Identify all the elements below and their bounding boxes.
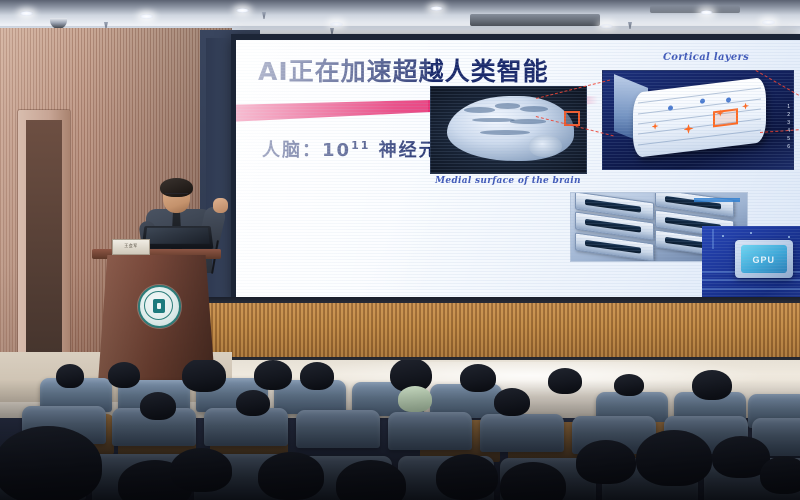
downlight [236, 8, 249, 13]
audience-head-foreground [0, 426, 102, 500]
presentation-slide: AI正在加速超越人类智能 人脑：1011 神经元 Medial surface … [236, 40, 800, 298]
cortical-layers-image: 1 2 3 4 5 6 [602, 70, 794, 170]
gpu-chip-image: GPU [702, 226, 800, 298]
seat [480, 414, 564, 452]
cerebellum [529, 135, 562, 157]
audience-head [494, 388, 530, 416]
ceiling-fixture-far [650, 6, 740, 13]
audience-head [56, 364, 84, 388]
circuit-trace [702, 279, 800, 281]
audience-head [236, 390, 270, 416]
downlight [430, 6, 443, 11]
slide-subtitle: 人脑：1011 神经元 [262, 136, 439, 162]
audience-head [692, 370, 732, 400]
brain-caption: Medial surface of the brain [432, 176, 584, 186]
emblem-core [153, 299, 165, 313]
audience-head [182, 360, 226, 392]
slide-subtitle-prefix: 人脑：10 [262, 140, 351, 161]
neuron-marker [742, 102, 749, 110]
slide-subtitle-exponent: 11 [351, 139, 370, 152]
audience-head [460, 364, 496, 392]
gyrus-fold [495, 103, 520, 108]
server-slot [585, 199, 641, 212]
cortex-slab [633, 77, 766, 158]
audience-head [760, 456, 800, 494]
neuron-marker-blue [668, 105, 673, 111]
audience-head [140, 392, 176, 420]
audience-head [254, 360, 292, 390]
circuit-trace [702, 288, 800, 290]
cortical-layer-number: 6 [787, 144, 790, 150]
laptop [142, 226, 214, 249]
audience-head [170, 448, 232, 492]
server-slot [585, 220, 641, 233]
speaker-hand [213, 198, 228, 213]
cortical-layer-number: 2 [787, 112, 790, 118]
cortical-layers-caption: Cortical layers [616, 52, 796, 63]
university-emblem-icon [138, 285, 181, 328]
gyrus-fold [472, 118, 515, 123]
cortical-layer-number: 3 [787, 120, 790, 126]
audience-head [300, 362, 334, 390]
downlight [600, 24, 613, 29]
downlight [20, 11, 33, 16]
wood-slat-band [200, 303, 800, 361]
audience-cap [398, 386, 432, 412]
ceiling-fixture [470, 14, 600, 26]
seat [388, 412, 472, 450]
cortical-layer-number: 1 [787, 104, 790, 110]
circuit-trace [712, 229, 714, 249]
gpu-core: GPU [741, 245, 787, 273]
server-slot [585, 240, 641, 253]
seat [296, 410, 380, 448]
neuron-marker [652, 122, 659, 130]
audience-head [258, 452, 324, 500]
circuit-node [750, 232, 752, 234]
audience-head [108, 362, 140, 388]
gyrus-fold [510, 119, 546, 124]
door-opening [26, 120, 62, 370]
audience-head [636, 430, 712, 486]
circuit-node [788, 236, 790, 238]
audience-head [548, 368, 582, 394]
neuron-marker-blue [700, 98, 705, 104]
slide-subtitle-suffix: 神经元 [370, 140, 438, 161]
brain-image [430, 86, 587, 174]
auditorium-scene: AI正在加速超越人类智能 人脑：1011 神经元 Medial surface … [0, 0, 800, 500]
podium-nameplate-text: 王会军 [113, 243, 149, 249]
brain-sagittal-shape [447, 96, 574, 161]
audience-area [0, 360, 800, 500]
cortical-layer-number: 5 [787, 136, 790, 142]
downlight [140, 14, 153, 19]
server-indicator [694, 198, 740, 201]
podium-nameplate: 王会军 [112, 239, 150, 255]
audience-head [614, 374, 644, 396]
audience-head [576, 440, 636, 484]
gpu-chip-label: GPU [741, 255, 787, 265]
cortex-highlight-box [713, 108, 738, 127]
audience-head [436, 454, 498, 500]
laptop-screen [145, 228, 210, 244]
downlight [330, 22, 343, 27]
circuit-node [722, 235, 724, 237]
corpus-callosum [480, 130, 531, 135]
glasses-icon [165, 193, 188, 199]
audience-head-foreground [336, 460, 406, 500]
gyrus-fold [520, 106, 548, 112]
downlight [700, 10, 713, 15]
gyrus-fold [464, 107, 495, 113]
downlight [762, 20, 775, 25]
gpu-die: GPU [735, 240, 793, 277]
